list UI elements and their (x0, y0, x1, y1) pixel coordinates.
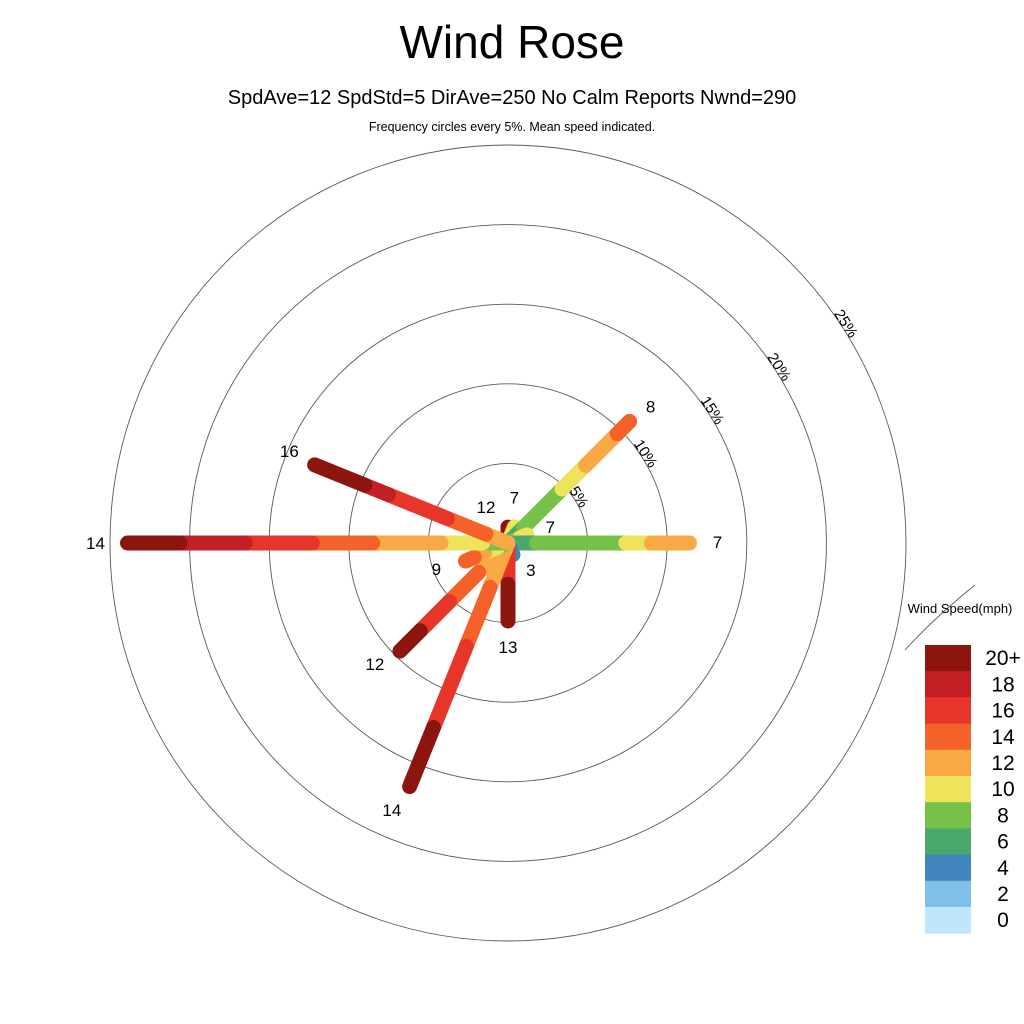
wind-rose-page: Wind Rose SpdAve=12 SpdStd=5 DirAve=250 … (0, 0, 1024, 1024)
page-title: Wind Rose (400, 16, 625, 68)
legend-swatch-14[interactable] (925, 724, 971, 751)
legend-swatch-2[interactable] (925, 881, 971, 908)
legend-label-20+: 20+ (985, 647, 1021, 670)
legend-label-2: 2 (997, 883, 1009, 906)
radial-tick-label-10%: 10% (630, 437, 661, 471)
legend-label-8: 8 (997, 804, 1009, 827)
mean-speed-label-SSW: 14 (382, 801, 401, 820)
legend-swatch-6[interactable] (925, 828, 971, 855)
radial-tick-label-25%: 25% (830, 307, 861, 341)
chart-stats-line: SpdAve=12 SpdStd=5 DirAve=250 No Calm Re… (228, 87, 797, 109)
radial-tick-labels: 5%10%15%20%25% (565, 307, 860, 511)
legend-swatch-8[interactable] (925, 802, 971, 829)
legend-label-16: 16 (991, 700, 1014, 723)
legend-swatch-0[interactable] (925, 907, 971, 934)
petal-segment-WSW-14 (466, 557, 475, 561)
mean-speed-label-NE: 8 (646, 397, 655, 416)
mean-speed-labels: 127877313141291416 (86, 397, 722, 819)
petal-segment-WNW-16 (388, 495, 447, 519)
legend-title: Wind Speed(mph) (908, 601, 1013, 616)
chart-note-line: Frequency circles every 5%. Mean speed i… (369, 120, 655, 134)
mean-speed-label-WSW: 9 (432, 560, 441, 579)
mean-speed-label-W: 14 (86, 534, 105, 553)
mean-speed-label-S: 13 (499, 638, 518, 657)
legend-label-18: 18 (991, 673, 1014, 696)
petal-segment-WNW-20 (315, 465, 365, 485)
petal-SSW (410, 543, 508, 787)
legend-label-14: 14 (991, 726, 1015, 749)
mean-speed-label-E: 7 (713, 533, 722, 552)
legend-label-12: 12 (991, 752, 1014, 775)
petal-segment-NE-14 (617, 421, 629, 433)
legend-swatch-20+[interactable] (925, 645, 971, 672)
mean-speed-label-WNW: 16 (280, 442, 299, 461)
mean-speed-label-NNE: 7 (510, 488, 519, 507)
legend-label-0: 0 (997, 909, 1009, 932)
legend-swatch-12[interactable] (925, 750, 971, 777)
legend-label-6: 6 (997, 831, 1009, 854)
legend-swatch-4[interactable] (925, 855, 971, 882)
radial-tick-label-20%: 20% (763, 350, 794, 384)
legend-swatch-16[interactable] (925, 697, 971, 724)
petal-segment-SW-20 (400, 631, 420, 651)
legend-swatches[interactable]: 20+181614121086420 (925, 645, 1021, 934)
petal-segment-NE-8 (524, 489, 562, 527)
legend-label-10: 10 (991, 778, 1014, 801)
petal-segment-SSW-14 (466, 587, 490, 646)
legend-label-4: 4 (997, 857, 1009, 880)
legend-swatch-10[interactable] (925, 776, 971, 803)
radial-tick-label-15%: 15% (697, 393, 728, 427)
wind-rose-chart: Wind Rose SpdAve=12 SpdStd=5 DirAve=250 … (0, 0, 1024, 1024)
mean-speed-label-SW: 12 (365, 655, 384, 674)
mean-speed-label-SSE: 3 (526, 561, 535, 580)
legend-swatch-18[interactable] (925, 671, 971, 698)
petal-group (128, 421, 690, 786)
mean-speed-label-ENE: 7 (546, 518, 555, 537)
petal-NE (508, 421, 630, 543)
mean-speed-label-N: 12 (477, 498, 496, 517)
legend-leader-line (905, 585, 975, 650)
petal-segment-SSW-16 (433, 646, 466, 727)
petal-segment-SSW-20 (410, 728, 434, 787)
